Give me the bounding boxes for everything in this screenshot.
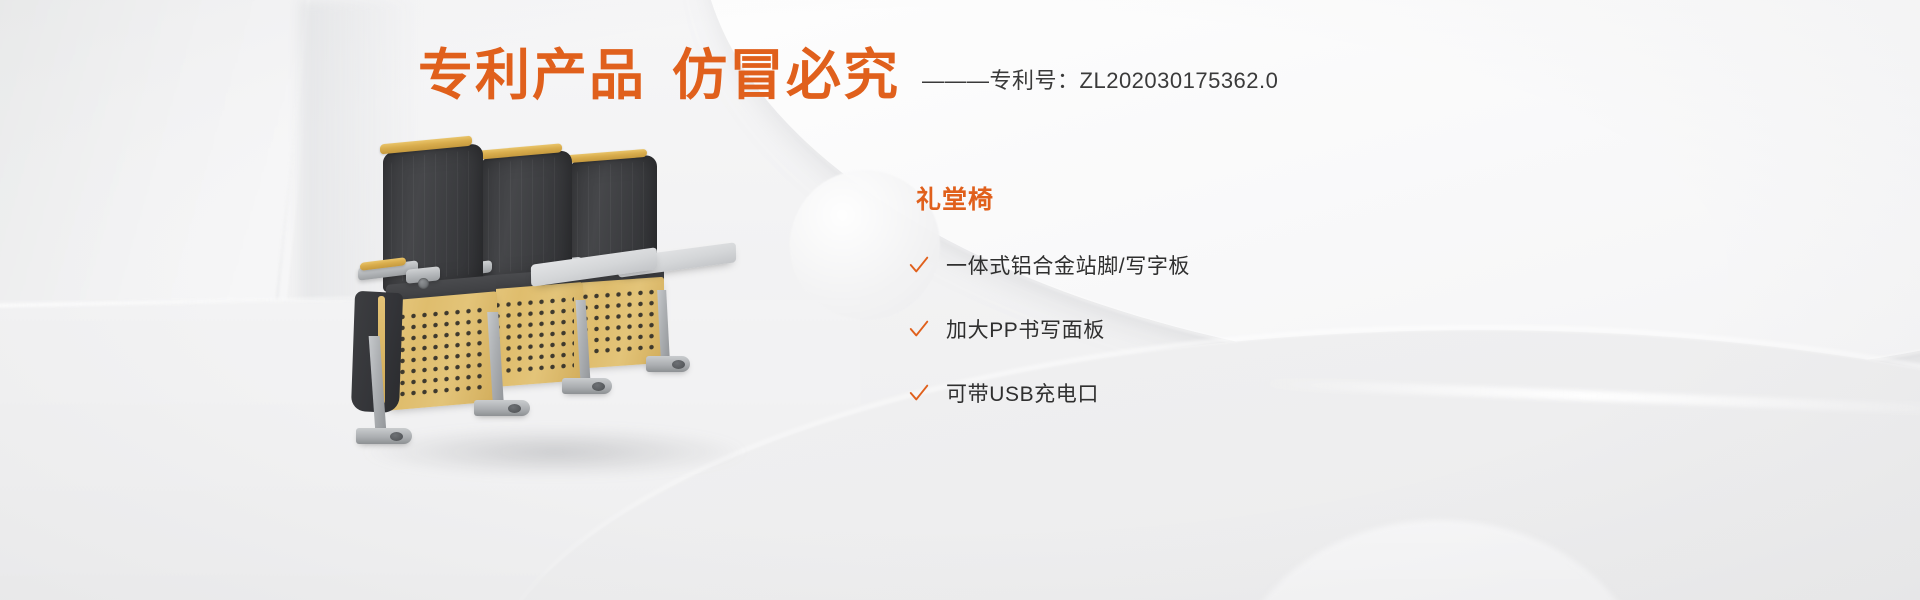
chair-foot-bracket [562,378,612,394]
feature-item: 一体式铝合金站脚/写字板 [908,250,1328,280]
chair-foot-bracket [646,356,690,372]
headline-part-2: 仿冒必究 [672,43,900,107]
chair-backrest-ribs [488,157,564,274]
check-icon [908,382,930,404]
chair-foot-anchor-hole [592,382,605,391]
headline-main-text: 专利产品仿冒必究 [418,48,900,103]
chair-foot-bracket [474,400,530,416]
chair-arm-pivot [418,278,429,289]
feature-item: 可带USB充电口 [908,378,1328,408]
feature-list-title: 礼堂椅 [916,180,1328,216]
chair-foot-anchor-hole [672,360,685,369]
patent-number-note: ———专利号：ZL202030175362.0 [922,63,1278,95]
product-image-auditorium-chairs [350,140,770,480]
feature-item: 加大PP书写面板 [908,314,1328,344]
feature-list: 礼堂椅 一体式铝合金站脚/写字板 加大PP书写面板 可带USB充电口 [908,180,1328,442]
headline-part-1: 专利产品 [418,43,646,107]
product-banner: 专利产品仿冒必究 ———专利号：ZL202030175362.0 礼堂椅 一体式… [0,0,1920,600]
chair-foot-anchor-hole [390,432,403,441]
feature-item-label: 一体式铝合金站脚/写字板 [946,250,1190,280]
check-icon [908,254,930,276]
headline: 专利产品仿冒必究 ———专利号：ZL202030175362.0 [418,48,1278,103]
chair-foot-bracket [356,428,412,444]
check-icon [908,318,930,340]
feature-item-label: 可带USB充电口 [946,378,1099,408]
product-floor-shadow [360,426,750,478]
chair-foot-anchor-hole [508,404,521,413]
chair-side-panel [387,291,497,411]
feature-item-label: 加大PP书写面板 [946,314,1105,344]
